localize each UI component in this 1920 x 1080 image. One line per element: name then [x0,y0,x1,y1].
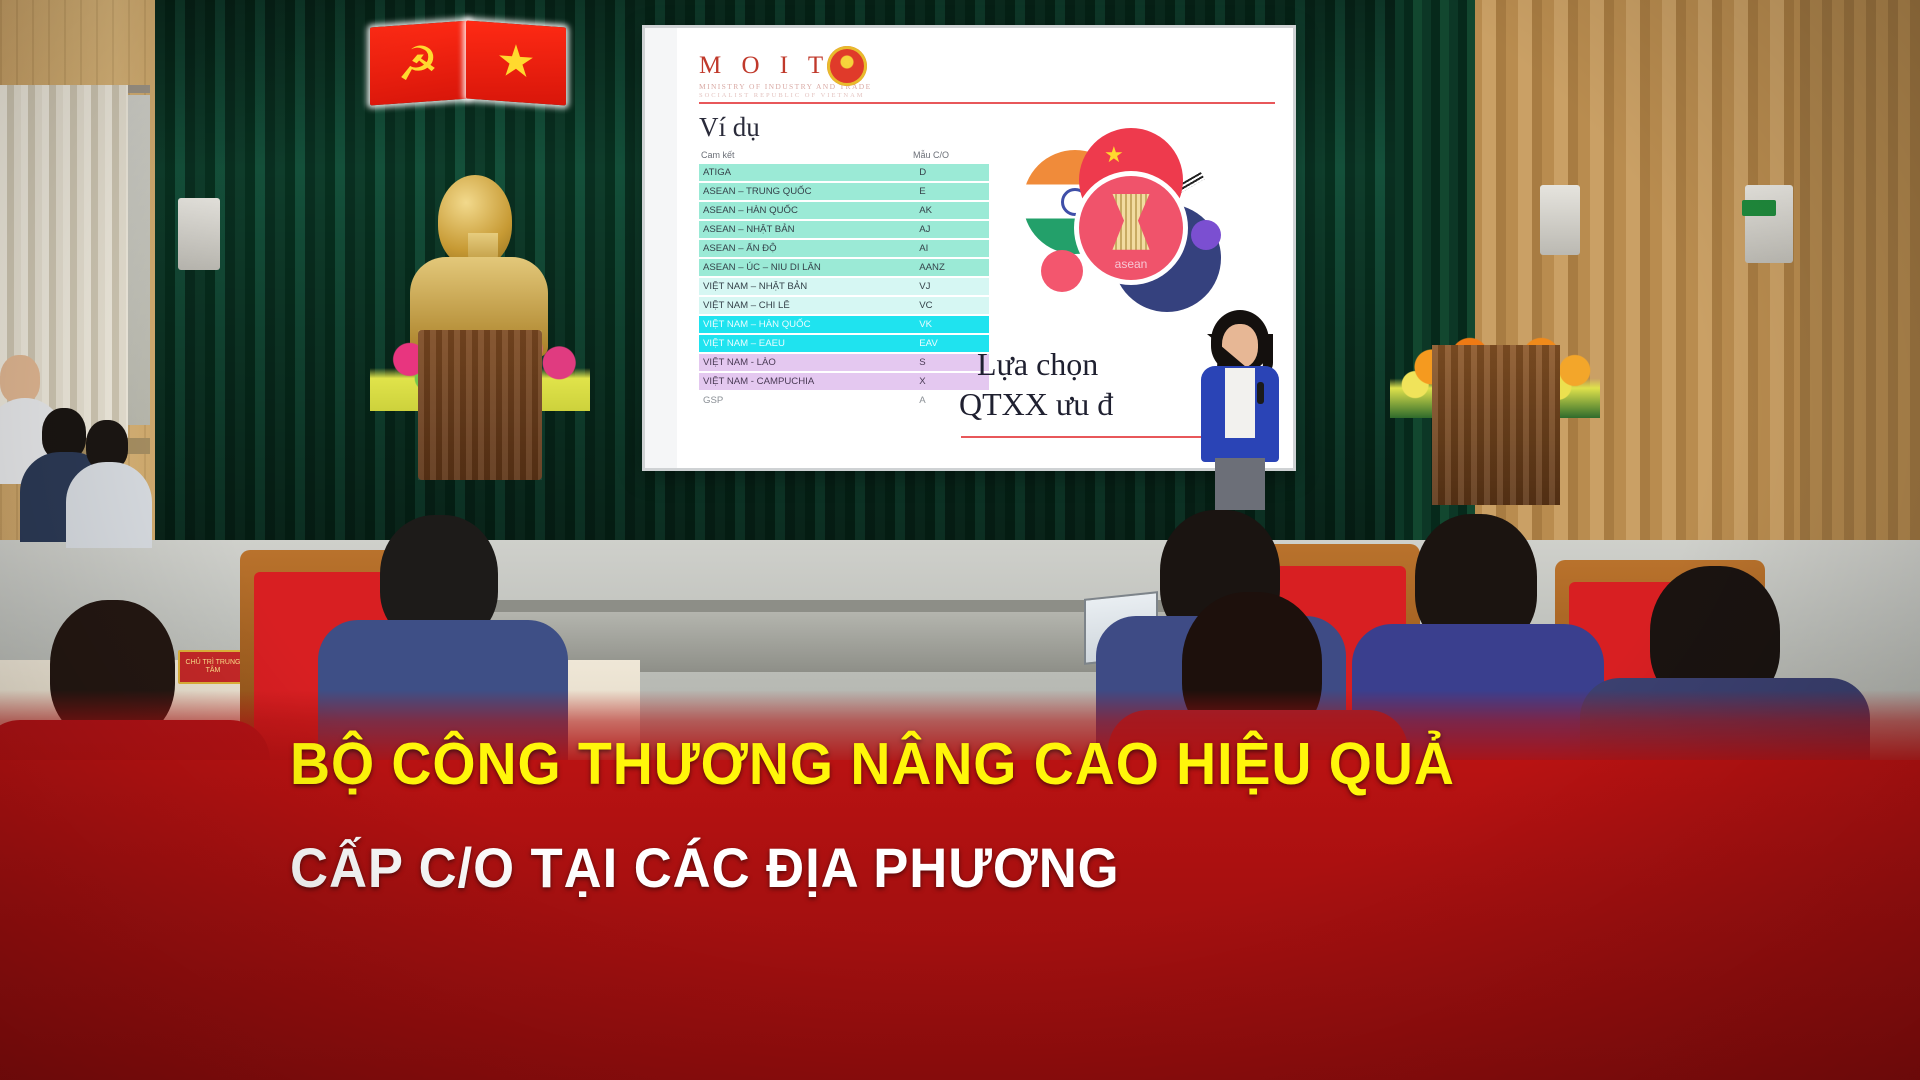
decorative-dot-purple [1191,220,1221,250]
flag-pair: ☭ ★ [370,10,590,120]
slide-caption-line1: Lựa chọn [977,346,1098,383]
cell-commitment: VIỆT NAM – EAEU [699,338,914,349]
cell-commitment: VIỆT NAM – NHẬT BẢN [699,281,914,292]
table-body: ATIGADASEAN – TRUNG QUỐCEASEAN – HÀN QUỐ… [699,164,989,409]
commitment-table: Cam kết Mẫu C/O ATIGADASEAN – TRUNG QUỐC… [699,150,989,411]
table-row: GSPA [699,392,989,409]
presenter-trousers [1215,458,1265,510]
moit-subtitle-secondary: SOCIALIST REPUBLIC OF VIETNAM [699,92,872,99]
cell-commitment: GSP [699,395,914,406]
cell-commitment: ASEAN – HÀN QUỐC [699,205,914,216]
wall-speaker-left [178,198,220,270]
vietnam-emblem-icon [827,46,867,86]
cell-form: AANZ [914,262,989,273]
presenter-shirt [1225,368,1255,438]
slide-caption-line2: QTXX ưu đ [959,386,1113,423]
table-row: ATIGAD [699,164,989,181]
header-form: Mẫu C/O [913,150,949,160]
cell-commitment: ATIGA [699,167,914,178]
cell-commitment: VIỆT NAM - LÀO [699,357,914,368]
slide-divider-top [699,102,1275,104]
cell-commitment: ASEAN – ẤN ĐỘ [699,243,914,254]
cell-commitment: VIỆT NAM – CHI LÊ [699,300,914,311]
cell-form: VK [914,319,989,330]
right-podium [1432,345,1560,505]
table-row: VIỆT NAM – CHI LÊVC [699,297,989,314]
wall-speaker-right [1745,185,1793,263]
caption-headline-line1: BỘ CÔNG THƯƠNG NÂNG CAO HIỆU QUẢ [290,735,1606,794]
center-pedestal [418,330,542,480]
table-row: ASEAN – ÚC – NIU DI LÂNAANZ [699,259,989,276]
header-commitment: Cam kết [701,150,913,160]
cell-commitment: VIỆT NAM – HÀN QUỐC [699,319,914,330]
cell-form: VJ [914,281,989,292]
slide-title: Ví dụ [699,112,760,143]
vietnam-flag: ★ [466,21,566,106]
asean-partners-graphic: asean [1007,128,1257,338]
table-row: VIỆT NAM – EAEUEAV [699,335,989,352]
microphone-icon [1257,382,1264,404]
table-row: VIỆT NAM – NHẬT BẢNVJ [699,278,989,295]
wall-speaker-center-right [1540,185,1580,255]
table-row: VIỆT NAM – HÀN QUỐCVK [699,316,989,333]
exit-sign [1742,200,1776,216]
table-row: ASEAN – HÀN QUỐCAK [699,202,989,219]
cell-commitment: ASEAN – TRUNG QUỐC [699,186,914,197]
presenter [1195,310,1285,510]
table-header-row: Cam kết Mẫu C/O [699,150,989,164]
cell-form: VC [914,300,989,311]
caption-headline-line2: CẤP C/O TẠI CÁC ĐỊA PHƯƠNG [290,840,1606,896]
asean-logo-label: asean [1115,257,1148,271]
cell-form: AK [914,205,989,216]
hammer-sickle-icon: ☭ [397,39,438,88]
asean-rice-stalks-icon [1102,194,1160,250]
communist-party-flag: ☭ [370,21,470,106]
table-row: ASEAN – NHẬT BẢNAJ [699,221,989,238]
cell-form: AI [914,243,989,254]
screenshot-root: ☭ ★ M O I T MINISTRY OF INDUSTRY AND [0,0,1920,1080]
asean-logo-icon: asean [1079,176,1183,280]
table-row: VIỆT NAM - CAMPUCHIAX [699,373,989,390]
cell-commitment: ASEAN – NHẬT BẢN [699,224,914,235]
caption-banner [0,760,1920,1080]
cell-form: E [914,186,989,197]
table-row: ASEAN – ẤN ĐỘAI [699,240,989,257]
table-row: ASEAN – TRUNG QUỐCE [699,183,989,200]
decorative-dot-pink [1041,250,1083,292]
cell-commitment: ASEAN – ÚC – NIU DI LÂN [699,262,914,273]
yellow-star-icon: ★ [496,39,535,86]
table-row: VIỆT NAM - LÀOS [699,354,989,371]
cell-form: D [914,167,989,178]
attendee-head [0,355,40,403]
cell-form: AJ [914,224,989,235]
cell-commitment: VIỆT NAM - CAMPUCHIA [699,376,914,387]
